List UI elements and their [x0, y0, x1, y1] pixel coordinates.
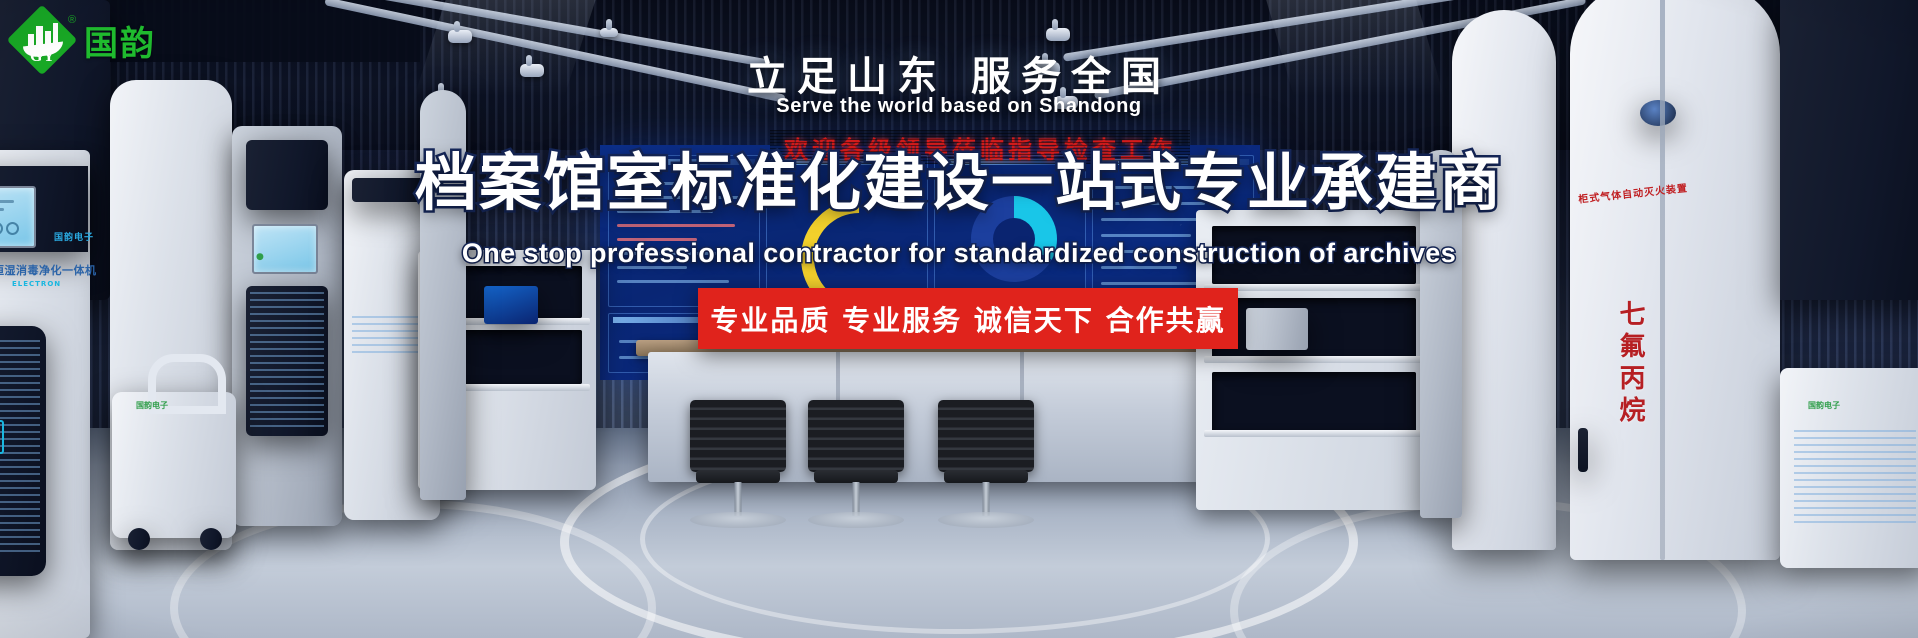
en-tagline: Serve the world based on Shandong	[0, 95, 1918, 118]
left-unit-title-label: 恒温恒湿消毒净化一体机	[0, 262, 97, 278]
left-unit-brand-label: 国韵电子	[54, 230, 94, 243]
page-title: 档案馆室标准化建设一站式专业承建商	[0, 132, 1918, 222]
slogan-text: 专业品质 专业服务 诚信天下 合作共赢	[710, 299, 1225, 339]
cn-tagline: 立足山东 服务全国	[0, 44, 1918, 102]
dehumidifier-brand-label: 国韵电子	[136, 400, 168, 411]
hero-text-overlay: GY ® 国韵 立足山东 服务全国 Serve the world based …	[0, 0, 1918, 638]
gas-cabinet-vertical-label: 七氟丙烷	[1612, 300, 1649, 428]
logo-building-bar	[36, 26, 43, 46]
hero-banner: ●	[0, 0, 1918, 638]
en-subtitle: One stop professional contractor for sta…	[0, 238, 1918, 269]
left-unit-badge-label: ELECTRON	[12, 280, 61, 288]
right-unit-brand-label: 国韵电子	[1808, 400, 1840, 411]
logo-registered-icon: ®	[68, 14, 76, 26]
slogan-banner[interactable]: 专业品质 专业服务 诚信天下 合作共赢	[698, 288, 1238, 349]
